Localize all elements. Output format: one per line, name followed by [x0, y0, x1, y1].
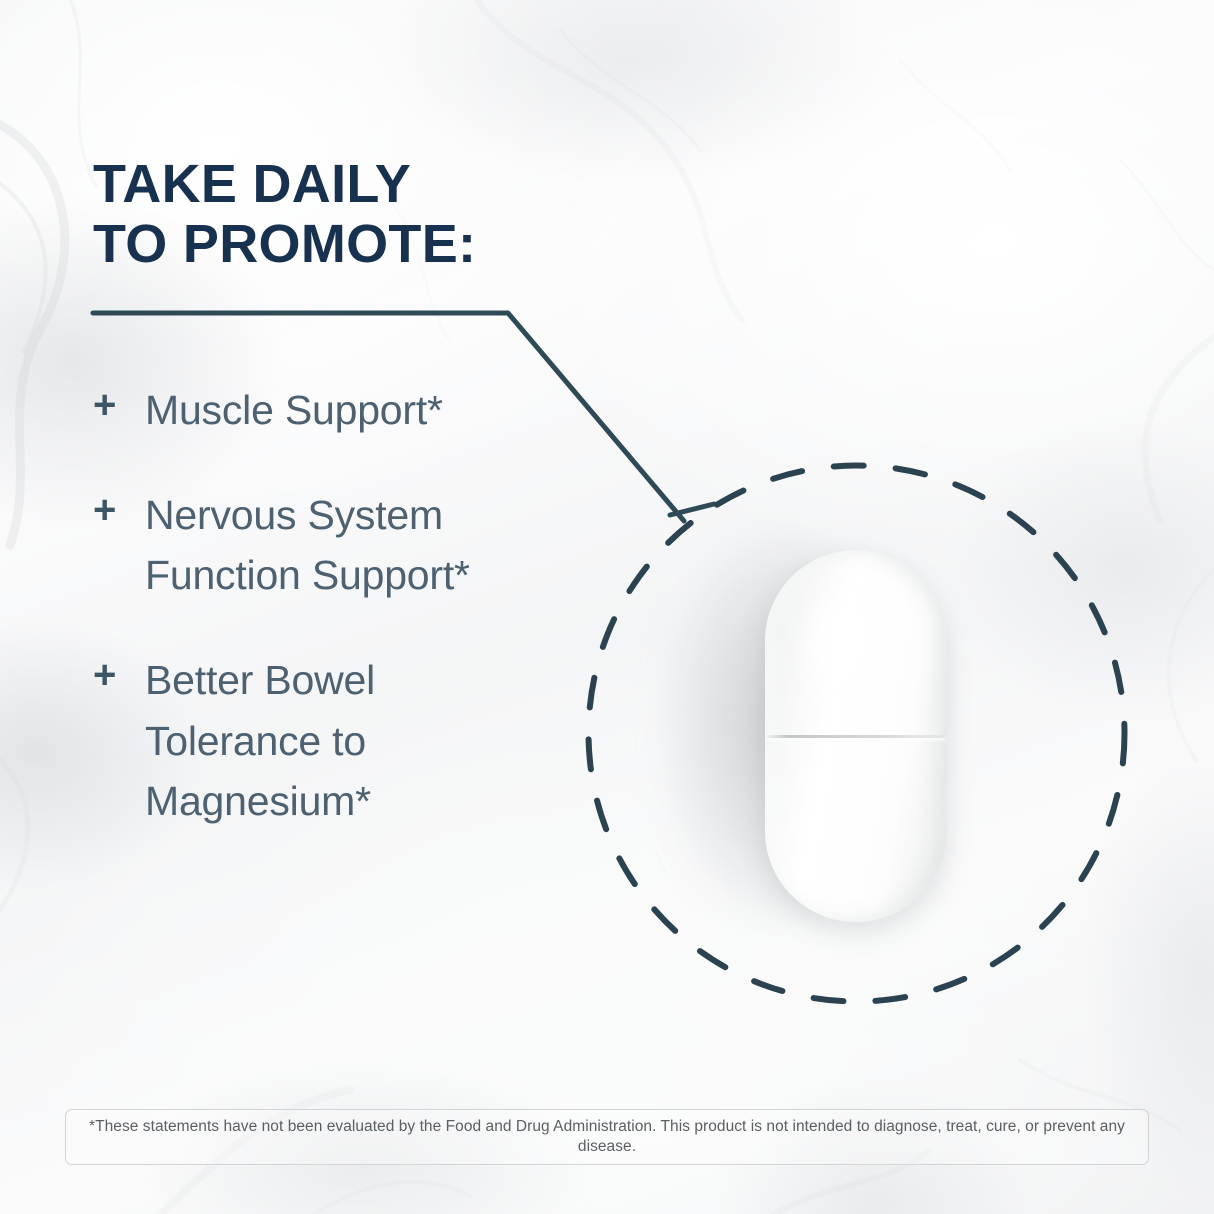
- benefit-label: Nervous System Function Support*: [145, 485, 613, 606]
- list-item: + Muscle Support*: [93, 380, 613, 441]
- disclaimer-text: *These statements have not been evaluate…: [66, 1117, 1148, 1157]
- product-benefits-infographic: TAKE DAILY TO PROMOTE: + Muscle Support*…: [0, 0, 1214, 1214]
- benefit-label: Better Bowel Tolerance to Magnesium*: [145, 650, 613, 832]
- tablet-highlight: [799, 586, 895, 736]
- tablet-pill-icon: [765, 550, 947, 922]
- disclaimer-box: *These statements have not been evaluate…: [65, 1109, 1149, 1165]
- list-item: + Nervous System Function Support*: [93, 485, 613, 606]
- tablet-score-line: [767, 735, 945, 738]
- plus-icon: +: [93, 380, 145, 431]
- plus-icon: +: [93, 485, 145, 536]
- page-title: TAKE DAILY TO PROMOTE:: [93, 154, 653, 275]
- benefit-label: Muscle Support*: [145, 380, 613, 441]
- benefit-list: + Muscle Support* + Nervous System Funct…: [93, 380, 613, 876]
- product-callout: [585, 462, 1128, 1005]
- plus-icon: +: [93, 650, 145, 701]
- list-item: + Better Bowel Tolerance to Magnesium*: [93, 650, 613, 832]
